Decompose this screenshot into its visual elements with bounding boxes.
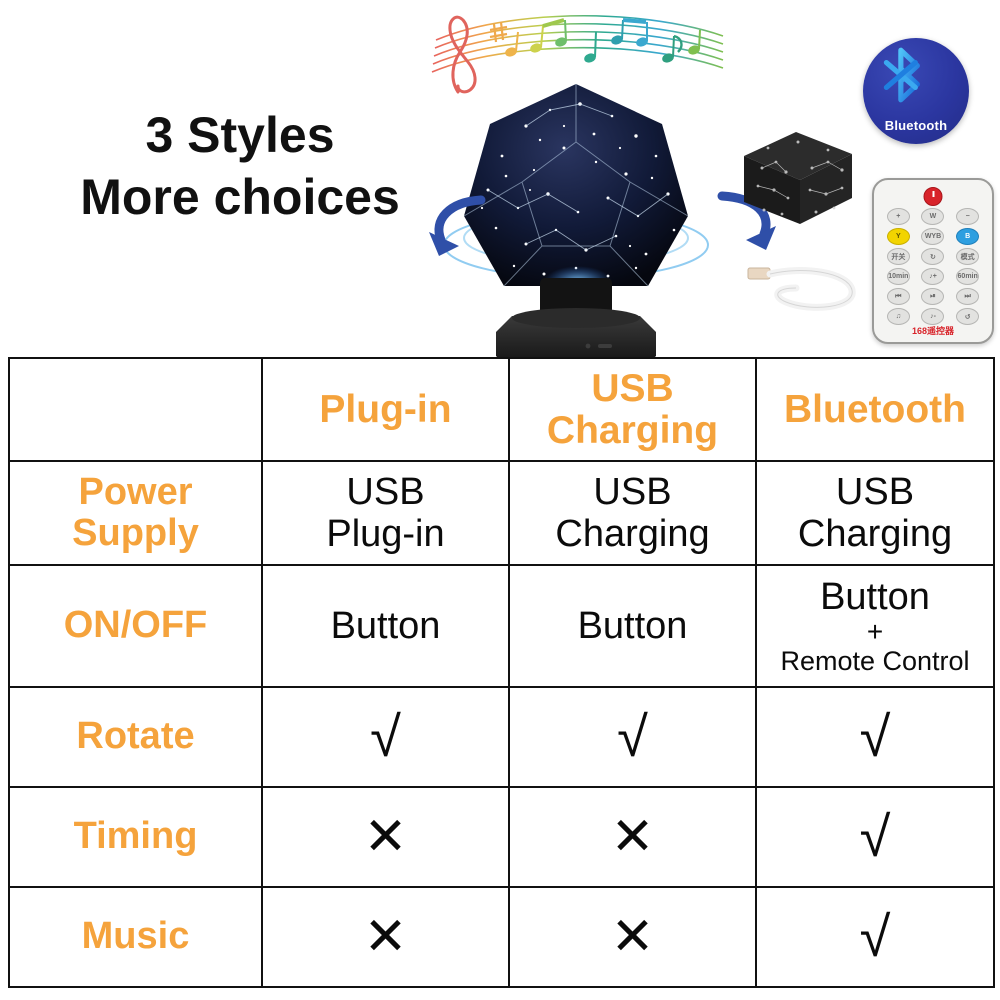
cell-rotate-plug-in: √ [262,687,509,787]
row-label-timing: Timing [9,787,262,887]
usb-cable [744,250,864,320]
remote-key-mode[interactable]: 模式 [956,248,979,265]
remote-key-b[interactable]: B [956,228,979,245]
remote-keypad: + W − Y WYB B 开关 ↻ 模式 10min ♪+ 60min ⏮ ⏯… [881,208,985,325]
cross-mark-icon: ✕ [267,909,504,965]
cell-power-supply-plug-in: USB Plug-in [262,461,509,564]
bluetooth-icon [874,44,936,106]
check-mark-icon: √ [514,709,751,765]
cell-text-line1: USB [346,471,424,513]
remote-key-prev[interactable]: ⏮ [887,288,910,305]
remote-key-switch[interactable]: 开关 [887,248,910,265]
cell-rotate-bluetooth: √ [756,687,994,787]
hero-section: 3 Styles More choices [0,0,1000,357]
table-row-power-supply: Power Supply USB Plug-in USB Charging US… [9,461,994,564]
cell-text-line1: USB [836,471,914,513]
cell-text-line2: Charging [798,513,952,555]
bluetooth-badge-label: Bluetooth [863,118,969,133]
bluetooth-badge: Bluetooth [863,38,969,144]
cross-mark-icon: ✕ [267,809,504,865]
remote-key-vol-up[interactable]: ♪+ [921,268,944,285]
row-label-power-supply-line2: Supply [72,512,199,554]
cross-mark-icon: ✕ [514,809,751,865]
column-header-usb-charging-line1: USB [591,367,673,410]
cell-text-line2: Remote Control [761,646,989,676]
row-label-timing-text: Timing [14,816,257,857]
cell-music-plug-in: ✕ [262,887,509,987]
cell-timing-usb-charging: ✕ [509,787,756,887]
table-row-rotate: Rotate √ √ √ [9,687,994,787]
headline-line-2: More choices [40,166,440,228]
cell-music-bluetooth: √ [756,887,994,987]
column-header-bluetooth-label: Bluetooth [761,389,989,431]
cell-music-usb-charging: ✕ [509,887,756,987]
row-label-music-text: Music [14,916,257,957]
remote-power-button[interactable] [924,187,943,206]
cell-text: Button [267,605,504,647]
table-row-timing: Timing ✕ ✕ √ [9,787,994,887]
remote-key-rotate[interactable]: ↻ [921,248,944,265]
remote-key-music[interactable]: ♫ [887,308,910,325]
remote-key-wyb[interactable]: WYB [921,228,944,245]
remote-key-vol-down[interactable]: ♪- [921,308,944,325]
remote-control: + W − Y WYB B 开关 ↻ 模式 10min ♪+ 60min ⏮ ⏯… [872,178,994,344]
column-header-usb-charging: USB Charging [509,358,756,461]
column-header-plug-in-label: Plug-in [267,389,504,431]
comparison-table: Plug-in USB Charging Bluetooth Power Sup… [8,357,995,988]
check-mark-icon: √ [761,809,989,865]
cell-text-line2: Charging [555,513,709,555]
row-label-music: Music [9,887,262,987]
cell-on-off-plug-in: Button [262,565,509,687]
table-header-row: Plug-in USB Charging Bluetooth [9,358,994,461]
cell-power-supply-bluetooth: USB Charging [756,461,994,564]
headline-line-1: 3 Styles [40,104,440,166]
remote-model-label: 168遥控器 [874,324,992,337]
remote-key-10min[interactable]: 10min [887,268,910,285]
row-label-on-off-text: ON/OFF [14,605,257,646]
remote-key-w[interactable]: W [921,208,944,225]
check-mark-icon: √ [267,709,504,765]
remote-key-loop[interactable]: ↺ [956,308,979,325]
cell-power-supply-usb-charging: USB Charging [509,461,756,564]
row-label-on-off: ON/OFF [9,565,262,687]
row-label-rotate: Rotate [9,687,262,787]
cell-text-line2: Plug-in [326,513,444,555]
cell-text-plus: + [761,618,989,646]
remote-key-y[interactable]: Y [887,228,910,245]
remote-key-60min[interactable]: 60min [956,268,979,285]
cell-text-line1: Button [820,576,930,618]
rotate-arrow-left-icon [425,182,545,277]
remote-key-plus[interactable]: + [887,208,910,225]
row-label-power-supply: Power Supply [9,461,262,564]
table-row-music: Music ✕ ✕ √ [9,887,994,987]
check-mark-icon: √ [761,909,989,965]
check-mark-icon: √ [761,709,989,765]
cell-text: Button [514,605,751,647]
cell-on-off-bluetooth: Button + Remote Control [756,565,994,687]
table-corner-cell [9,358,262,461]
row-label-rotate-text: Rotate [14,716,257,757]
cell-timing-bluetooth: √ [756,787,994,887]
cell-text-line1: USB [593,471,671,513]
column-header-plug-in: Plug-in [262,358,509,461]
row-label-power-supply-line1: Power [78,471,192,513]
cell-rotate-usb-charging: √ [509,687,756,787]
column-header-bluetooth: Bluetooth [756,358,994,461]
remote-key-minus[interactable]: − [956,208,979,225]
cell-timing-plug-in: ✕ [262,787,509,887]
table-row-on-off: ON/OFF Button Button Button + Remote Con… [9,565,994,687]
column-header-usb-charging-line2: Charging [547,409,718,452]
cross-mark-icon: ✕ [514,909,751,965]
remote-key-next[interactable]: ⏭ [956,288,979,305]
page-title: 3 Styles More choices [40,104,440,228]
cell-on-off-usb-charging: Button [509,565,756,687]
remote-key-play[interactable]: ⏯ [921,288,944,305]
product-box [738,128,858,228]
